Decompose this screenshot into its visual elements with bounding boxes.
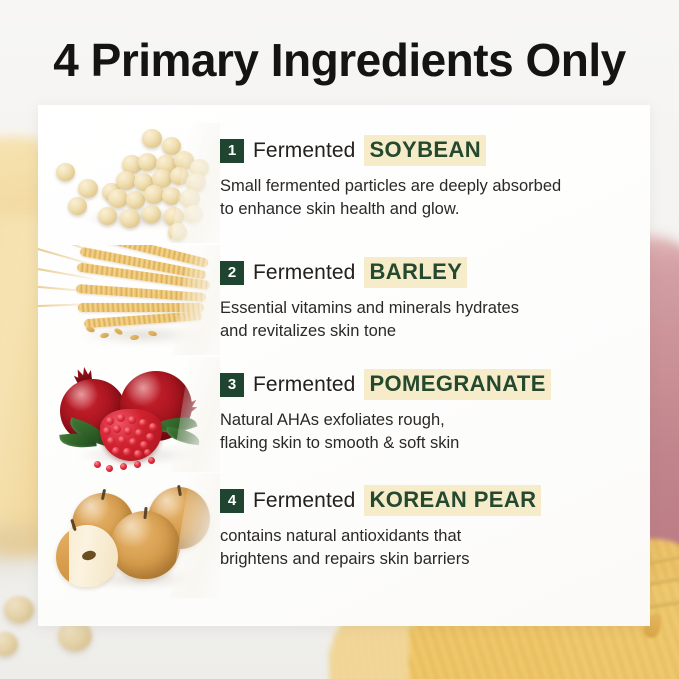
description-line: brightens and repairs skin barriers — [220, 548, 620, 571]
description-line: and revitalizes skin tone — [220, 320, 620, 343]
background-soybean — [4, 596, 34, 623]
ingredient-number-badge: 3 — [220, 373, 244, 397]
ingredient-name: BARLEY — [364, 257, 467, 288]
description-line: to enhance skin health and glow. — [220, 198, 620, 221]
ingredient-list: 1 Fermented SOYBEAN Small fermented part… — [38, 105, 650, 626]
ingredient-description: Natural AHAs exfoliates rough, flaking s… — [220, 409, 620, 456]
ingredient-heading: 4 Fermented KOREAN PEAR — [220, 485, 640, 516]
ingredient-heading: 2 Fermented BARLEY — [220, 257, 640, 288]
description-line: Essential vitamins and minerals hydrates — [220, 297, 620, 320]
ingredient-row-barley: 2 Fermented BARLEY Essential vitamins an… — [38, 245, 650, 355]
description-line: flaking skin to smooth & soft skin — [220, 432, 620, 455]
ingredient-number-badge: 2 — [220, 261, 244, 285]
ingredient-description: contains natural antioxidants that brigh… — [220, 525, 620, 572]
page-title: 4 Primary Ingredients Only — [0, 36, 679, 86]
ingredient-text-pomegranate: 3 Fermented POMEGRANATE Natural AHAs exf… — [220, 357, 650, 456]
soybeans-photo — [38, 123, 220, 243]
korean-pear-photo — [38, 473, 220, 598]
description-line: Natural AHAs exfoliates rough, — [220, 409, 620, 432]
ingredient-text-korean-pear: 4 Fermented KOREAN PEAR contains natural… — [220, 473, 650, 572]
ingredients-infographic: 4 Primary Ingredients Only — [0, 0, 679, 679]
ingredient-name: POMEGRANATE — [364, 369, 550, 400]
ingredient-row-soybean: 1 Fermented SOYBEAN Small fermented part… — [38, 123, 650, 243]
ingredient-text-barley: 2 Fermented BARLEY Essential vitamins an… — [220, 245, 650, 344]
ingredient-row-korean-pear: 4 Fermented KOREAN PEAR contains natural… — [38, 473, 650, 598]
ingredient-description: Essential vitamins and minerals hydrates… — [220, 297, 620, 344]
ingredient-prefix: Fermented — [253, 261, 355, 285]
ingredient-description: Small fermented particles are deeply abs… — [220, 175, 620, 222]
description-line: Small fermented particles are deeply abs… — [220, 175, 620, 198]
pomegranate-photo — [38, 357, 220, 472]
ingredient-name: SOYBEAN — [364, 135, 486, 166]
ingredient-heading: 1 Fermented SOYBEAN — [220, 135, 640, 166]
ingredient-prefix: Fermented — [253, 489, 355, 513]
ingredient-row-pomegranate: 3 Fermented POMEGRANATE Natural AHAs exf… — [38, 357, 650, 472]
ingredient-heading: 3 Fermented POMEGRANATE — [220, 369, 640, 400]
ingredient-name: KOREAN PEAR — [364, 485, 541, 516]
ingredient-text-soybean: 1 Fermented SOYBEAN Small fermented part… — [220, 123, 650, 222]
ingredient-number-badge: 1 — [220, 139, 244, 163]
ingredient-number-badge: 4 — [220, 489, 244, 513]
ingredient-prefix: Fermented — [253, 139, 355, 163]
ingredient-prefix: Fermented — [253, 373, 355, 397]
description-line: contains natural antioxidants that — [220, 525, 620, 548]
barley-stalks-photo — [38, 245, 220, 355]
